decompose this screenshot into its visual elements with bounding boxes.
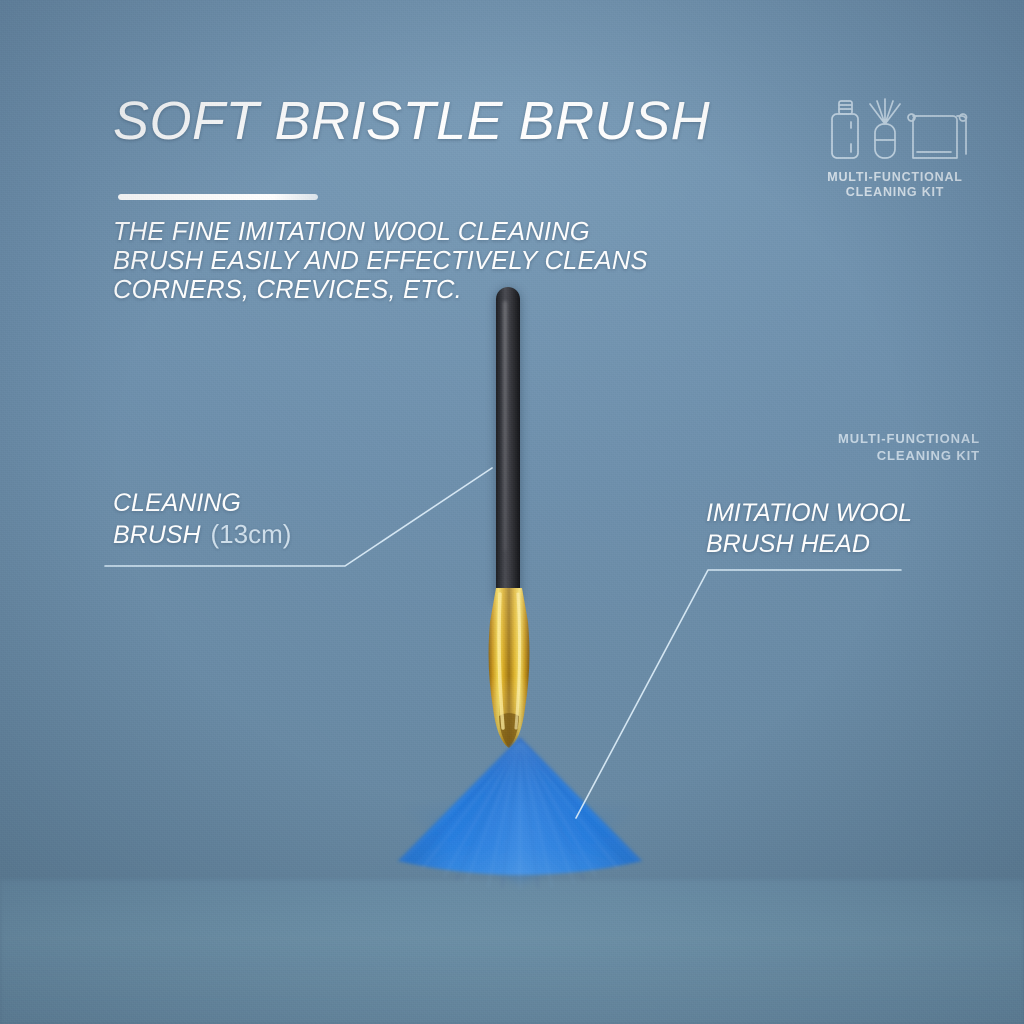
page-title: SOFT BRISTLE BRUSH <box>113 90 710 152</box>
badge-line-2: CLEANING KIT <box>800 185 990 200</box>
callout-cleaning-brush: CLEANING BRUSH(13cm) <box>113 488 443 551</box>
watermark-text: MULTI-FUNCTIONAL CLEANING KIT <box>740 430 980 464</box>
description-line-2: BRUSH EASILY AND EFFECTIVELY CLEANS <box>113 247 753 276</box>
brush-handle <box>496 287 520 599</box>
watermark-line-1: MULTI-FUNCTIONAL <box>740 430 980 447</box>
watermark-line-2: CLEANING KIT <box>740 447 980 464</box>
callout-brush-head: IMITATION WOOL BRUSH HEAD <box>706 498 1006 560</box>
brush-head-bristles <box>392 735 648 895</box>
fan-brush-icon <box>870 99 900 158</box>
badge-text: MULTI-FUNCTIONAL CLEANING KIT <box>800 170 990 200</box>
callout-left-dimension: (13cm) <box>211 519 292 549</box>
towel-rail-icon <box>908 114 967 158</box>
callout-right-line-1: IMITATION WOOL <box>706 498 1006 529</box>
spray-bottle-icon <box>832 101 858 158</box>
brand-badge: MULTI-FUNCTIONAL CLEANING KIT <box>800 92 990 200</box>
product-banner: SOFT BRISTLE BRUSH THE FINE IMITATION WO… <box>0 0 1024 1024</box>
description-line-1: THE FINE IMITATION WOOL CLEANING <box>113 218 753 247</box>
description-line-3: CORNERS, CREVICES, ETC. <box>113 276 753 305</box>
callout-left-line-2: BRUSH <box>113 521 201 549</box>
badge-line-1: MULTI-FUNCTIONAL <box>800 170 990 185</box>
callout-right-line-2: BRUSH HEAD <box>706 529 1006 560</box>
callout-left-line-1: CLEANING <box>113 488 443 519</box>
product-description: THE FINE IMITATION WOOL CLEANING BRUSH E… <box>113 218 753 305</box>
title-divider <box>118 194 318 200</box>
